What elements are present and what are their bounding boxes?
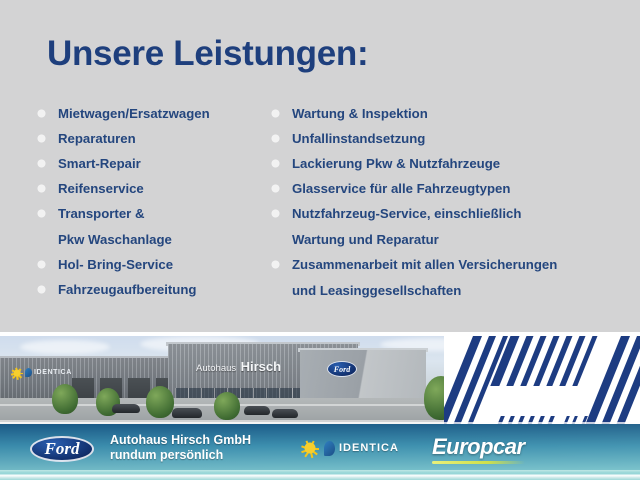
bullet-icon [38,210,45,217]
list-item-label-line2: und Leasinggesellschaften [292,282,602,299]
europcar-label: Europcar [432,434,525,460]
list-item-label: Reparaturen [58,131,136,146]
bullet-icon [38,110,45,117]
bullet-icon [272,185,279,192]
europcar-swoosh [432,461,525,464]
list-item-label: Smart-Repair [58,156,141,171]
list-item: Zusammenarbeit mit allen Versicherungen … [272,256,602,299]
parked-car [244,406,270,415]
europcar-logo: Europcar [432,434,525,464]
list-item-label: Fahrzeugaufbereitung [58,282,196,297]
tree-shape [146,386,174,418]
bottom-accent-lines [0,470,640,480]
tree-shape [214,392,240,420]
identica-label: IDENTICA [339,442,399,454]
list-item: Hol- Bring-Service [38,256,278,273]
sign-name: Hirsch [241,359,281,374]
list-item-label-line2: Wartung und Reparatur [292,231,602,248]
sun-icon [10,366,23,379]
list-item-label: Glasservice für alle Fahrzeugtypen [292,181,510,196]
services-left-column: Mietwagen/Ersatzwagen Reparaturen Smart-… [38,105,278,306]
sun-icon [300,438,320,458]
services-right-column: Wartung & Inspektion Unfallinstandsetzun… [272,105,602,307]
list-item: Wartung & Inspektion [272,105,602,122]
list-item-label: Mietwagen/Ersatzwagen [58,106,210,121]
list-item-label: Zusammenarbeit mit allen Versicherungen [292,257,557,272]
bullet-icon [38,160,45,167]
bullet-icon [272,160,279,167]
building-identica-sign: IDENTICA [10,366,72,379]
list-item: Fahrzeugaufbereitung [38,281,278,298]
list-item: Transporter & Pkw Waschanlage [38,205,278,248]
list-item: Unfallinstandsetzung [272,130,602,147]
parked-car [272,409,298,418]
list-item-label-line2: Pkw Waschanlage [58,231,278,248]
building-name-sign: Autohaus Hirsch [196,358,281,376]
list-item-label: Nutzfahrzeug-Service, einschließlich [292,206,521,221]
list-item: Nutzfahrzeug-Service, einschließlich War… [272,205,602,248]
list-item: Smart-Repair [38,155,278,172]
ford-oval-label: Ford [334,365,350,374]
list-item: Glasservice für alle Fahrzeugtypen [272,180,602,197]
list-item-label: Wartung & Inspektion [292,106,428,121]
company-tagline: rundum persönlich [110,448,251,463]
list-item-label: Hol- Bring-Service [58,257,173,272]
building-identica-label: IDENTICA [34,369,72,376]
swoosh-icon [324,441,335,456]
bullet-icon [272,261,279,268]
list-item: Reifenservice [38,180,278,197]
company-name-block: Autohaus Hirsch GmbH rundum persönlich [110,433,251,463]
tree-shape [52,384,78,414]
list-item-label: Unfallinstandsetzung [292,131,425,146]
list-item: Lackierung Pkw & Nutzfahrzeuge [272,155,602,172]
company-name-line1: Autohaus Hirsch GmbH [110,433,251,448]
cloud-shape [20,340,110,354]
list-item-label: Lackierung Pkw & Nutzfahrzeuge [292,156,500,171]
list-item-label: Reifenservice [58,181,144,196]
bullet-icon [38,261,45,268]
bullet-icon [38,135,45,142]
parked-car [112,404,140,413]
ford-logo-icon: Ford [30,436,94,462]
list-item: Reparaturen [38,130,278,147]
parked-car [172,408,202,418]
list-item: Mietwagen/Ersatzwagen [38,105,278,122]
identica-logo: IDENTICA [300,438,399,458]
ford-oval-label: Ford [45,439,80,459]
ford-logo-icon: Ford [327,361,357,377]
bullet-icon [272,210,279,217]
bullet-icon [272,135,279,142]
page-title: Unsere Leistungen: [47,34,368,74]
bullet-icon [272,110,279,117]
swoosh-icon [25,368,32,377]
partner-logo-bar: Ford Autohaus Hirsch GmbH rundum persönl… [0,424,640,472]
list-item-label: Transporter & [58,206,144,221]
bullet-icon [38,286,45,293]
slide-canvas: Unsere Leistungen: Mietwagen/Ersatzwagen… [0,0,640,480]
sign-prefix: Autohaus [196,363,236,374]
bullet-icon [38,185,45,192]
